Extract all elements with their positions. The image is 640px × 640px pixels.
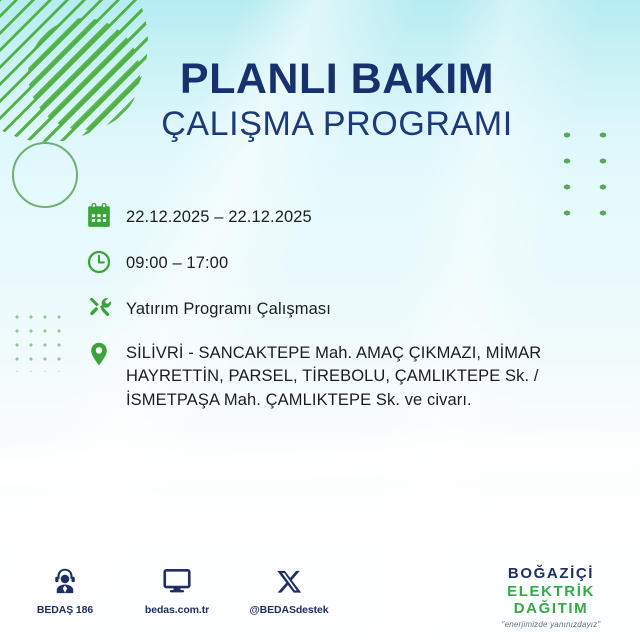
circle-outline-decoration [12,142,78,208]
detail-row-date: 22.12.2025 – 22.12.2025 [86,203,586,235]
planned-maintenance-poster: PLANLI BAKIM ÇALIŞMA PROGRAMI [0,0,640,640]
work-type-value: Yatırım Programı Çalışması [126,295,331,321]
page-title: PLANLI BAKIM [34,58,640,102]
brand-line-2: ELEKTRİK [485,583,617,601]
page-subtitle: ÇALIŞMA PROGRAMI [34,107,640,143]
background-wave-2 [0,463,640,566]
background-wave-1 [0,416,640,505]
brand-logo: BOĞAZİÇİ ELEKTRİK DAĞITIM "enerjimizde y… [485,565,617,629]
detail-row-location: SİLİVRİ - SANCAKTEPE Mah. AMAÇ ÇIKMAZI, … [86,341,586,412]
brand-tagline: "enerjimizde yanınızdayız" [485,620,617,629]
brand-line-1: BOĞAZİÇİ [485,565,617,583]
detail-row-work-type: Yatırım Programı Çalışması [86,295,586,327]
map-pin-icon [86,341,126,373]
clock-icon [86,249,126,281]
contact-item-phone[interactable]: BEDAŞ 186 [22,563,108,616]
contact-item-website[interactable]: bedas.com.tr [134,563,220,616]
time-value: 09:00 – 17:00 [126,249,228,275]
dot-grid-decoration-left [10,310,64,372]
contact-label-phone: BEDAŞ 186 [22,604,108,616]
brand-line-3: DAĞITIM [485,600,617,618]
poster-header: PLANLI BAKIM ÇALIŞMA PROGRAMI [0,58,640,143]
tools-icon [86,295,126,327]
contact-item-twitter[interactable]: @BEDASdestek [246,563,332,616]
support-agent-icon [22,563,108,599]
date-value: 22.12.2025 – 22.12.2025 [126,203,312,229]
contact-label-website: bedas.com.tr [134,604,220,616]
contact-label-twitter: @BEDASdestek [246,604,332,616]
contact-list: BEDAŞ 186 bedas.com.tr [22,563,332,616]
x-twitter-icon [246,563,332,599]
detail-row-time: 09:00 – 17:00 [86,249,586,281]
monitor-icon [134,563,220,599]
outage-details: 22.12.2025 – 22.12.2025 09:00 – 17:00 [86,203,586,412]
calendar-icon [86,203,126,235]
location-value: SİLİVRİ - SANCAKTEPE Mah. AMAÇ ÇIKMAZI, … [126,341,586,412]
poster-footer: BEDAŞ 186 bedas.com.tr [0,563,640,640]
